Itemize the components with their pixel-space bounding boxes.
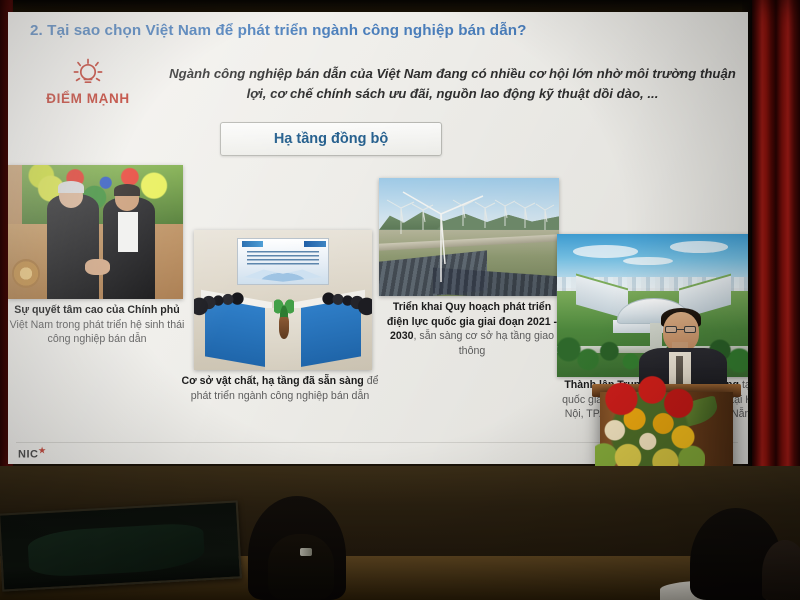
strength-badge: ĐIỂM MẠNH (24, 58, 152, 106)
nic-star-icon: ★ (38, 446, 46, 455)
photo-conference-hall (194, 230, 372, 370)
photo-wind-solar-farm (379, 178, 559, 296)
caption-conference-hall: Cơ sở vật chất, hạ tầng đã sẵn sàng để p… (171, 374, 389, 403)
hair-clip (300, 548, 312, 556)
audience-head-far-right (762, 540, 800, 600)
caption-1-bold: Sự quyết tâm cao của Chính phủ (14, 304, 179, 316)
caption-1-rest: Việt Nam trong phát triển hệ sinh thái c… (10, 319, 185, 346)
audience-ponytail (268, 534, 334, 600)
nic-logo: NIC★ (18, 446, 46, 461)
section-pill-label: Hạ tầng đồng bộ (274, 131, 388, 147)
caption-wind-solar-farm: Triển khai Quy hoạch phát triển điện lực… (386, 300, 558, 358)
caption-government-handshake: Sự quyết tâm cao của Chính phủ Việt Nam … (8, 303, 186, 347)
glasses-icon (664, 326, 698, 333)
strength-badge-label: ĐIỂM MẠNH (24, 91, 152, 106)
slide-title: 2. Tại sao chọn Việt Nam để phát triển n… (30, 22, 527, 39)
caption-3-rest: , sẵn sàng cơ sở hạ tầng giao thông (414, 330, 555, 357)
lightbulb-icon (24, 58, 152, 90)
caption-2-bold: Cơ sở vật chất, hạ tầng đã sẵn sàng (182, 375, 364, 387)
section-pill: Hạ tầng đồng bộ (220, 122, 442, 156)
photo-of-conference-room: 2. Tại sao chọn Việt Nam để phát triển n… (0, 0, 800, 600)
photo-government-handshake (8, 165, 183, 299)
foreground-monitor (0, 500, 242, 591)
slide-subtitle: Ngành công nghiệp bán dẫn của Việt Nam đ… (160, 64, 745, 105)
nic-logo-text: NIC (18, 449, 38, 461)
